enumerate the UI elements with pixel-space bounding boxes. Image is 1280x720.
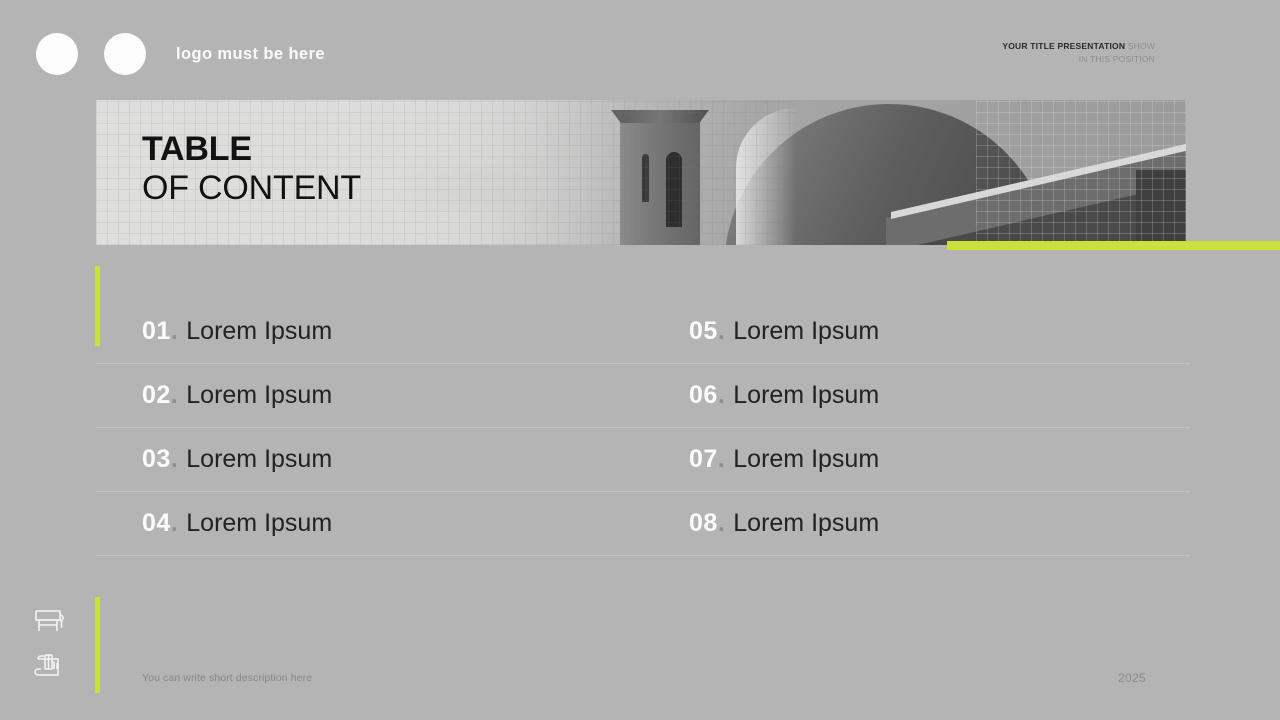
toc-number: 02. (142, 381, 178, 410)
page-title-line-2: OF CONTENT (142, 171, 361, 206)
logo-circle-secondary-icon (104, 33, 146, 75)
header-title-line-1: YOUR TITLE PRESENTATION SHOW (1002, 40, 1155, 53)
toc-number-value: 07 (689, 445, 718, 473)
toc-number-value: 03 (142, 445, 171, 473)
toc-number-dot: . (718, 445, 725, 473)
grid-texture-right (976, 100, 1186, 245)
slide-header: logo must be here YOUR TITLE PRESENTATIO… (0, 0, 1280, 96)
toc-number-value: 06 (689, 381, 718, 409)
accent-bar-vertical-footer (95, 597, 100, 693)
page-title-line-1: TABLE (142, 132, 361, 167)
toc-number-value: 02 (142, 381, 171, 409)
logo-circle-primary-icon (36, 33, 78, 75)
toc-number-dot: . (171, 317, 178, 345)
toc-number-value: 04 (142, 509, 171, 537)
toc-number-dot: . (171, 381, 178, 409)
presentation-slide: logo must be here YOUR TITLE PRESENTATIO… (0, 0, 1280, 720)
logo-group[interactable]: logo must be here (36, 33, 325, 75)
header-title-light: SHOW (1125, 41, 1155, 51)
table-row: 01. Lorem Ipsum 05. Lorem Ipsum (96, 300, 1190, 364)
header-title-block: YOUR TITLE PRESENTATION SHOW IN THIS POS… (1002, 40, 1155, 66)
toc-number: 03. (142, 445, 178, 474)
title-banner: TABLE OF CONTENT (96, 100, 1186, 245)
accent-bar-horizontal (947, 241, 1280, 250)
toc-number-dot: . (718, 381, 725, 409)
toc-item-05[interactable]: 05. Lorem Ipsum (643, 300, 1190, 363)
toc-label: Lorem Ipsum (733, 509, 879, 538)
toc-item-08[interactable]: 08. Lorem Ipsum (643, 492, 1190, 555)
table-row: 02. Lorem Ipsum 06. Lorem Ipsum (96, 364, 1190, 428)
footer-icon-group (33, 605, 67, 681)
blueprint-rolled-plans-icon (33, 649, 67, 681)
toc-item-01[interactable]: 01. Lorem Ipsum (96, 300, 643, 363)
toc-number: 07. (689, 445, 725, 474)
footer-description: You can write short description here (142, 672, 312, 684)
toc-number-dot: . (171, 445, 178, 473)
toc-label: Lorem Ipsum (186, 317, 332, 346)
toc-label: Lorem Ipsum (733, 317, 879, 346)
bench-furniture-icon (33, 605, 67, 637)
toc-label: Lorem Ipsum (186, 509, 332, 538)
toc-number-dot: . (718, 509, 725, 537)
toc-number-value: 01 (142, 317, 171, 345)
header-title-line-2: IN THIS POSITION (1002, 53, 1155, 66)
logo-placeholder-text: logo must be here (176, 45, 325, 64)
toc-number: 08. (689, 509, 725, 538)
toc-item-02[interactable]: 02. Lorem Ipsum (96, 364, 643, 427)
toc-number: 06. (689, 381, 725, 410)
toc-number: 04. (142, 509, 178, 538)
toc-number-value: 05 (689, 317, 718, 345)
header-title-strong: YOUR TITLE PRESENTATION (1002, 41, 1125, 51)
toc-item-04[interactable]: 04. Lorem Ipsum (96, 492, 643, 555)
toc-label: Lorem Ipsum (733, 381, 879, 410)
footer-year: 2025 (1118, 671, 1146, 685)
toc-number: 05. (689, 317, 725, 346)
table-of-content-list: 01. Lorem Ipsum 05. Lorem Ipsum 02. Lore… (96, 300, 1190, 556)
toc-item-03[interactable]: 03. Lorem Ipsum (96, 428, 643, 491)
toc-label: Lorem Ipsum (186, 445, 332, 474)
page-title: TABLE OF CONTENT (142, 132, 361, 205)
toc-number-value: 08 (689, 509, 718, 537)
toc-item-06[interactable]: 06. Lorem Ipsum (643, 364, 1190, 427)
toc-number-dot: . (718, 317, 725, 345)
toc-label: Lorem Ipsum (186, 381, 332, 410)
toc-number-dot: . (171, 509, 178, 537)
table-row: 04. Lorem Ipsum 08. Lorem Ipsum (96, 492, 1190, 556)
toc-label: Lorem Ipsum (733, 445, 879, 474)
table-row: 03. Lorem Ipsum 07. Lorem Ipsum (96, 428, 1190, 492)
toc-number: 01. (142, 317, 178, 346)
toc-item-07[interactable]: 07. Lorem Ipsum (643, 428, 1190, 491)
